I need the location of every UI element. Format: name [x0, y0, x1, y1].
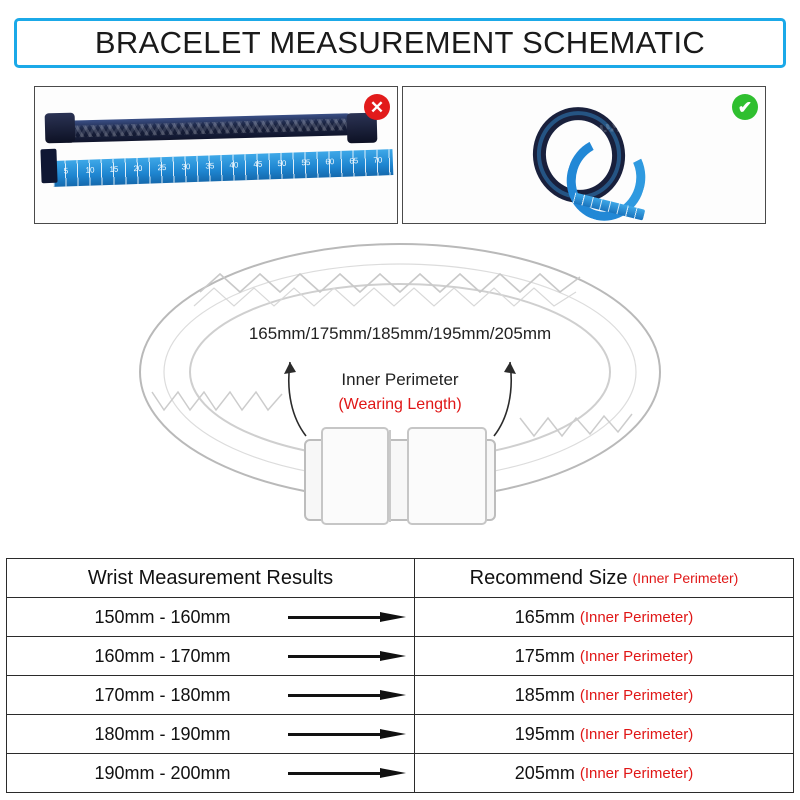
tape-number: 35	[201, 161, 219, 176]
cross-icon: ✕	[364, 94, 390, 120]
flat-tape-measure: 5 10 15 20 25 30 35 40 45 50 55 60 65 70	[53, 149, 394, 187]
row-wrist-cell: 150mm - 160mm	[7, 598, 415, 636]
table-row: 180mm - 190mm 195mm (Inner Perimeter)	[7, 715, 793, 754]
tape-number: 70	[369, 155, 387, 170]
wearing-length-label: (Wearing Length)	[250, 396, 550, 414]
size-table: Wrist Measurement Results Recommend Size…	[6, 558, 794, 793]
tape-number: 50	[273, 159, 291, 174]
tape-number: 5	[57, 166, 75, 181]
recommended-size: 165mm	[515, 607, 575, 628]
tape-number: 25	[153, 163, 171, 178]
tape-number: 60	[321, 157, 339, 172]
tape-number: 20	[129, 164, 147, 179]
table-row: 170mm - 180mm 185mm (Inner Perimeter)	[7, 676, 793, 715]
recommended-size-note: (Inner Perimeter)	[580, 765, 693, 782]
header-recommend-note: (Inner Perimeter)	[633, 570, 739, 586]
tape-number: 40	[225, 160, 243, 175]
tape-number: 15	[105, 164, 123, 179]
recommended-size-note: (Inner Perimeter)	[580, 726, 693, 743]
arrow-icon	[288, 651, 406, 661]
title-banner: BRACELET MEASUREMENT SCHEMATIC	[14, 18, 786, 68]
table-row: 150mm - 160mm 165mm (Inner Perimeter)	[7, 598, 793, 637]
recommended-size-note: (Inner Perimeter)	[580, 648, 693, 665]
row-size-cell: 205mm (Inner Perimeter)	[415, 754, 793, 792]
tape-number: 65	[345, 156, 363, 171]
inner-perimeter-label: Inner Perimeter	[250, 370, 550, 390]
recommended-size-note: (Inner Perimeter)	[580, 687, 693, 704]
row-size-cell: 175mm (Inner Perimeter)	[415, 637, 793, 675]
check-icon: ✔	[732, 94, 758, 120]
schematic-page: BRACELET MEASUREMENT SCHEMATIC 5 10 15 2…	[0, 0, 800, 800]
arrow-icon	[288, 768, 406, 778]
tape-number: 55	[297, 158, 315, 173]
table-row: 160mm - 170mm 175mm (Inner Perimeter)	[7, 637, 793, 676]
row-size-cell: 165mm (Inner Perimeter)	[415, 598, 793, 636]
row-size-cell: 195mm (Inner Perimeter)	[415, 715, 793, 753]
row-wrist-cell: 190mm - 200mm	[7, 754, 415, 792]
looped-bracelet-illustration	[523, 101, 643, 213]
recommended-size: 185mm	[515, 685, 575, 706]
header-recommend-label: Recommend Size	[470, 567, 628, 590]
flat-bracelet-illustration	[57, 113, 357, 143]
recommended-size: 175mm	[515, 646, 575, 667]
wrong-method-panel: 5 10 15 20 25 30 35 40 45 50 55 60 65 70	[34, 86, 398, 224]
row-wrist-cell: 180mm - 190mm	[7, 715, 415, 753]
header-cell-wrist: Wrist Measurement Results	[7, 559, 415, 597]
row-wrist-cell: 160mm - 170mm	[7, 637, 415, 675]
table-row: 190mm - 200mm 205mm (Inner Perimeter)	[7, 754, 793, 792]
recommended-size-note: (Inner Perimeter)	[580, 609, 693, 626]
recommended-size: 205mm	[515, 763, 575, 784]
header-cell-recommend: Recommend Size (Inner Perimeter)	[415, 559, 793, 597]
tape-number: 10	[81, 165, 99, 180]
arrow-icon	[288, 690, 406, 700]
tape-end-clip	[40, 149, 57, 184]
bracelet-clasp-left	[45, 113, 76, 144]
tape-number: 45	[249, 159, 267, 174]
arrow-icon	[288, 612, 406, 622]
row-size-cell: 185mm (Inner Perimeter)	[415, 676, 793, 714]
comparison-panels: 5 10 15 20 25 30 35 40 45 50 55 60 65 70	[34, 86, 766, 224]
bracelet-diagram	[90, 222, 710, 562]
page-title: BRACELET MEASUREMENT SCHEMATIC	[95, 25, 705, 61]
header-wrist-label: Wrist Measurement Results	[88, 567, 333, 590]
correct-method-panel: ✔	[402, 86, 766, 224]
sizes-label: 165mm/175mm/185mm/195mm/205mm	[240, 324, 560, 344]
recommended-size: 195mm	[515, 724, 575, 745]
table-header-row: Wrist Measurement Results Recommend Size…	[7, 559, 793, 598]
tape-number: 30	[177, 162, 195, 177]
arrow-icon	[288, 729, 406, 739]
row-wrist-cell: 170mm - 180mm	[7, 676, 415, 714]
bracelet-sketch	[90, 222, 710, 562]
